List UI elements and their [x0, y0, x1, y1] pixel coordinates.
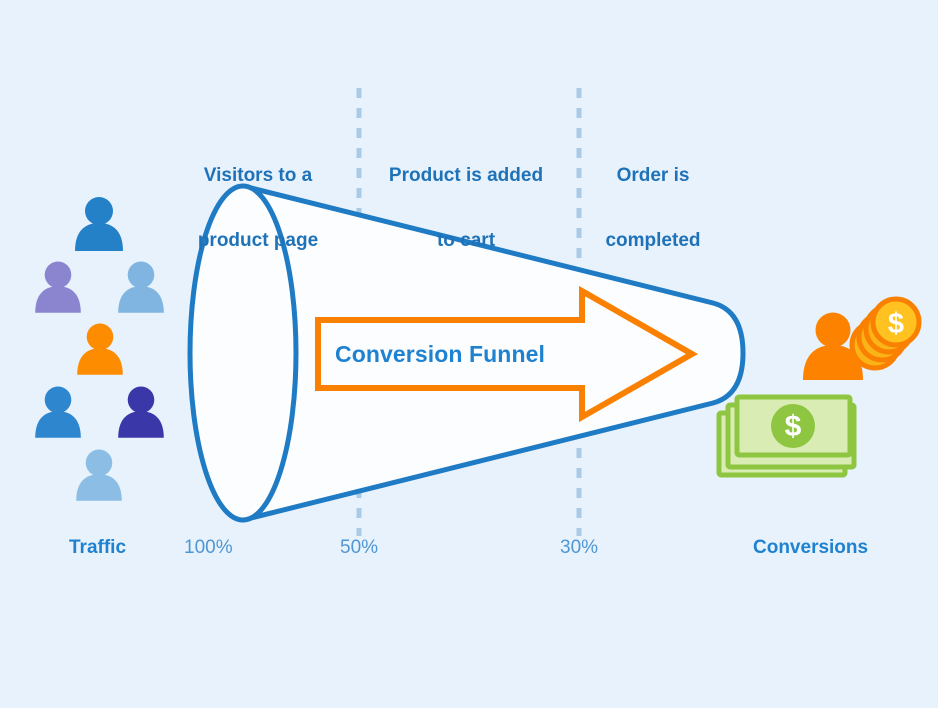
percent-label-30: 30% [560, 537, 598, 559]
coin-stack: $ [852, 299, 919, 368]
stage-header-visitors: Visitors to a product page [178, 121, 338, 296]
stage-header-cart: Product is added to cart [381, 121, 551, 296]
traffic-label: Traffic [69, 537, 126, 559]
percent-label-100: 100% [184, 537, 233, 559]
conversions-label: Conversions [753, 537, 868, 559]
stage-header-order: Order is completed [577, 121, 729, 296]
percent-label-50: 50% [340, 537, 378, 559]
conversion-funnel-diagram: $ $ Visitors to a product page Product i… [0, 0, 938, 708]
funnel-title: Conversion Funnel [335, 341, 545, 367]
stage-header-visitors-line1: Visitors to a [178, 165, 338, 187]
stage-header-visitors-line2: product page [178, 230, 338, 252]
coin-dollar-symbol: $ [888, 308, 904, 340]
stage-header-cart-line2: to cart [381, 230, 551, 252]
stage-header-order-line2: completed [577, 230, 729, 252]
stage-header-cart-line1: Product is added [381, 165, 551, 187]
stage-header-order-line1: Order is [577, 165, 729, 187]
banknote-stack: $ [719, 397, 854, 475]
banknote-dollar-symbol: $ [785, 410, 802, 443]
